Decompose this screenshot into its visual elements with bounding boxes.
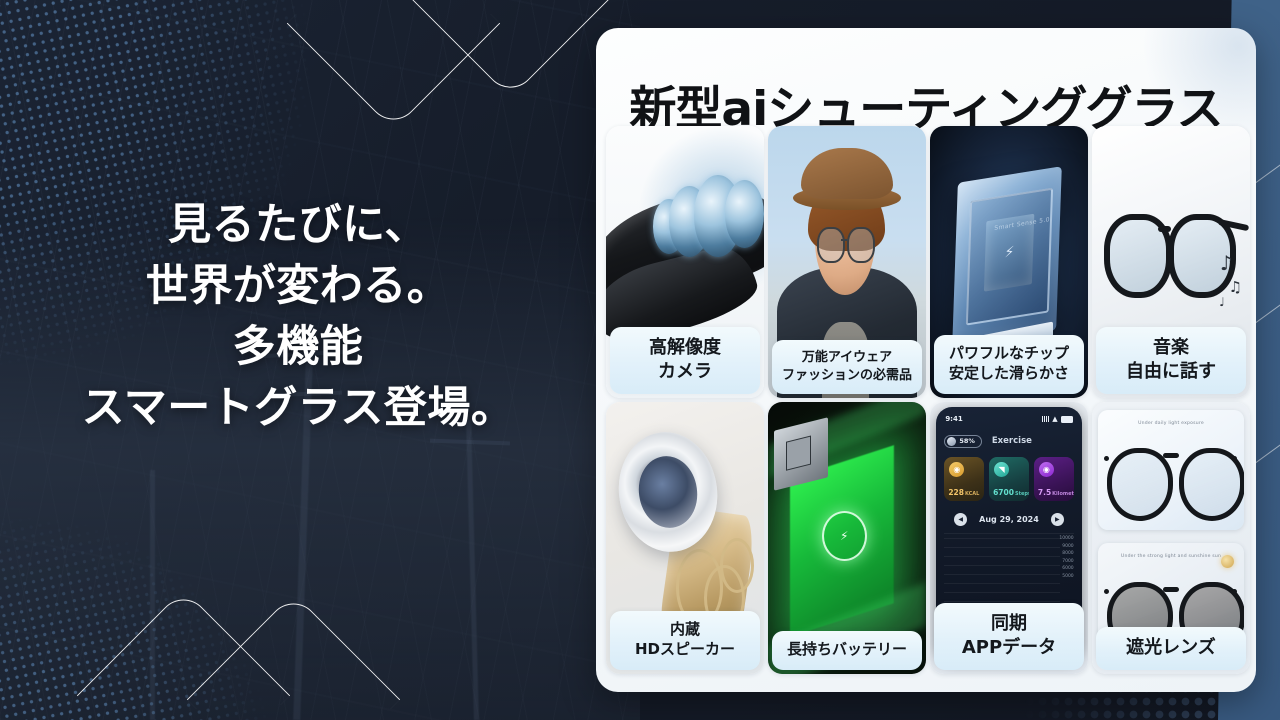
- chip-inner-frame: Smart Sense 5.0 ⚡: [966, 187, 1054, 326]
- glasses-frame: [1101, 208, 1240, 290]
- card-caption: パワフルなチップ 安定した滑らかさ: [934, 335, 1084, 394]
- prev-day-button[interactable]: ◀: [954, 513, 967, 526]
- shoe-icon: ◥: [994, 462, 1009, 477]
- glasses-bridge: [1163, 453, 1178, 458]
- chart-y-axis-labels: 10000 9000 8000 7000 6000 5000: [1059, 536, 1073, 579]
- wifi-icon: ▲: [1052, 415, 1057, 423]
- headline-line-1: 見るたびに、: [18, 195, 578, 256]
- phone-stat-cards: ◉ 228KCAL ◥ 6700Steps ◉ 7.5Kilometers: [944, 457, 1073, 501]
- feature-card-app[interactable]: 9:41 ▲ 58% Exerc: [930, 402, 1088, 674]
- battery-percent: 58%: [959, 437, 975, 445]
- headline-line-3: 多機能: [18, 317, 578, 378]
- signal-icon: [1042, 416, 1049, 422]
- stat-card-distance[interactable]: ◉ 7.5Kilometers: [1034, 457, 1074, 501]
- card-caption: 内蔵 HDスピーカー: [610, 611, 760, 670]
- stat-value: 228KCAL: [948, 488, 979, 497]
- phone-status-bar: 9:41 ▲: [936, 413, 1081, 425]
- glasses-clear: [1107, 448, 1235, 510]
- stat-unit: Kilometers: [1052, 491, 1073, 497]
- poster-canvas: 見るたびに、 世界が変わる。 多機能 スマートグラス登場。 新型aiシューティン…: [0, 0, 1280, 720]
- caption-line: 高解像度: [614, 336, 756, 360]
- caption-line: 内蔵: [614, 620, 756, 640]
- caption-line: HDスピーカー: [614, 640, 756, 660]
- eyeglasses-bridge: [841, 239, 847, 241]
- music-note-icon: ♩: [1219, 295, 1225, 309]
- caption-line: APPデータ: [938, 636, 1080, 660]
- card-caption: 万能アイウェア ファッションの必需品: [772, 340, 922, 394]
- eyeglasses-icon: [817, 227, 845, 264]
- card-caption: 遮光レンズ: [1096, 627, 1246, 670]
- stat-value: 6700Steps: [993, 488, 1029, 497]
- caption-line: ファッションの必需品: [776, 367, 918, 384]
- lightning-bolt-icon: ⚡: [1004, 244, 1014, 262]
- battery-icon: [1061, 416, 1073, 423]
- caption-line: 音楽: [1100, 336, 1242, 360]
- battery-dot-icon: [947, 437, 956, 446]
- y-label: 10000: [1059, 536, 1073, 541]
- phone-header-row: 58% Exercise: [944, 433, 1073, 449]
- feature-card-battery[interactable]: ⚡ 長持ちバッテリー: [768, 402, 926, 674]
- y-label: 9000: [1059, 544, 1073, 549]
- location-pin-icon: ◉: [1039, 462, 1054, 477]
- feature-card-speaker[interactable]: 内蔵 HDスピーカー: [606, 402, 764, 674]
- headline-line-4: スマートグラス登場。: [18, 378, 578, 439]
- card-caption: 音楽 自由に話す: [1096, 327, 1246, 394]
- flame-icon: ◉: [949, 462, 964, 477]
- feature-card-eyewear[interactable]: 万能アイウェア ファッションの必需品: [768, 126, 926, 398]
- card-caption: 高解像度 カメラ: [610, 327, 760, 394]
- stat-unit: Steps: [1015, 491, 1029, 497]
- caption-line: 遮光レンズ: [1100, 636, 1242, 660]
- headline-line-2: 世界が変わる。: [18, 256, 578, 317]
- lens-left: [1107, 448, 1173, 520]
- battery-pill: 58%: [944, 435, 982, 448]
- music-note-icon: ♪: [1220, 251, 1233, 275]
- phone-date-selector: ◀ Aug 29, 2024 ▶: [944, 511, 1073, 527]
- headline: 見るたびに、 世界が変わる。 多機能 スマートグラス登場。: [18, 195, 578, 439]
- feature-card-camera[interactable]: 高解像度 カメラ: [606, 126, 764, 398]
- status-icons: ▲: [1042, 415, 1072, 423]
- glasses-hinge: [1104, 589, 1109, 594]
- portrait-hat: [801, 148, 893, 200]
- caption-line: 自由に話す: [1100, 360, 1242, 384]
- stat-card-steps[interactable]: ◥ 6700Steps: [989, 457, 1029, 501]
- glasses-bridge: [1163, 587, 1178, 592]
- next-day-button[interactable]: ▶: [1051, 513, 1064, 526]
- chip-body: Smart Sense 5.0 ⚡: [952, 166, 1062, 347]
- lens-panel-caption: Under daily light exposure: [1098, 421, 1243, 426]
- speaker-ring: [720, 538, 754, 593]
- music-note-icon: ♫: [1229, 278, 1242, 296]
- camera-lens-ring-icon: [725, 180, 765, 248]
- y-label: 6000: [1059, 566, 1073, 571]
- feature-card-shade[interactable]: Under daily light exposure Under the str…: [1092, 402, 1250, 674]
- y-label: 7000: [1059, 559, 1073, 564]
- utility-pole: [466, 420, 479, 720]
- caption-line: パワフルなチップ: [938, 344, 1080, 364]
- feature-card-chip[interactable]: Smart Sense 5.0 ⚡ パワフルなチップ 安定した滑らかさ: [930, 126, 1088, 398]
- caption-line: 同期: [938, 612, 1080, 636]
- feature-panel: 新型aiシューティンググラス 高解像度 カメラ: [596, 28, 1256, 692]
- caption-line: 安定した滑らかさ: [938, 364, 1080, 384]
- y-label: 5000: [1059, 574, 1073, 579]
- feature-card-grid: 高解像度 カメラ 万能ア: [604, 126, 1252, 674]
- glasses-bridge: [1158, 226, 1171, 232]
- glasses-hinge: [1104, 456, 1109, 461]
- stat-unit: KCAL: [965, 491, 979, 497]
- charging-bolt-icon: ⚡: [822, 511, 867, 561]
- selected-date: Aug 29, 2024: [979, 515, 1039, 524]
- card-caption: 長持ちバッテリー: [772, 631, 922, 670]
- stat-value: 7.5Kilometers: [1038, 488, 1074, 497]
- caption-line: カメラ: [614, 360, 756, 384]
- sun-icon: [1221, 555, 1234, 568]
- y-label: 8000: [1059, 551, 1073, 556]
- card-caption: 同期 APPデータ: [934, 603, 1084, 670]
- screen-title: Exercise: [992, 436, 1032, 446]
- feature-card-music[interactable]: ♪ ♫ ♩ 音楽 自由に話す: [1092, 126, 1250, 398]
- stat-card-calories[interactable]: ◉ 228KCAL: [944, 457, 984, 501]
- eyeglasses-icon: [847, 227, 875, 264]
- caption-line: 長持ちバッテリー: [776, 640, 918, 660]
- caption-line: 万能アイウェア: [776, 349, 918, 366]
- status-time: 9:41: [945, 415, 962, 423]
- lens-panel-clear: Under daily light exposure: [1098, 410, 1243, 530]
